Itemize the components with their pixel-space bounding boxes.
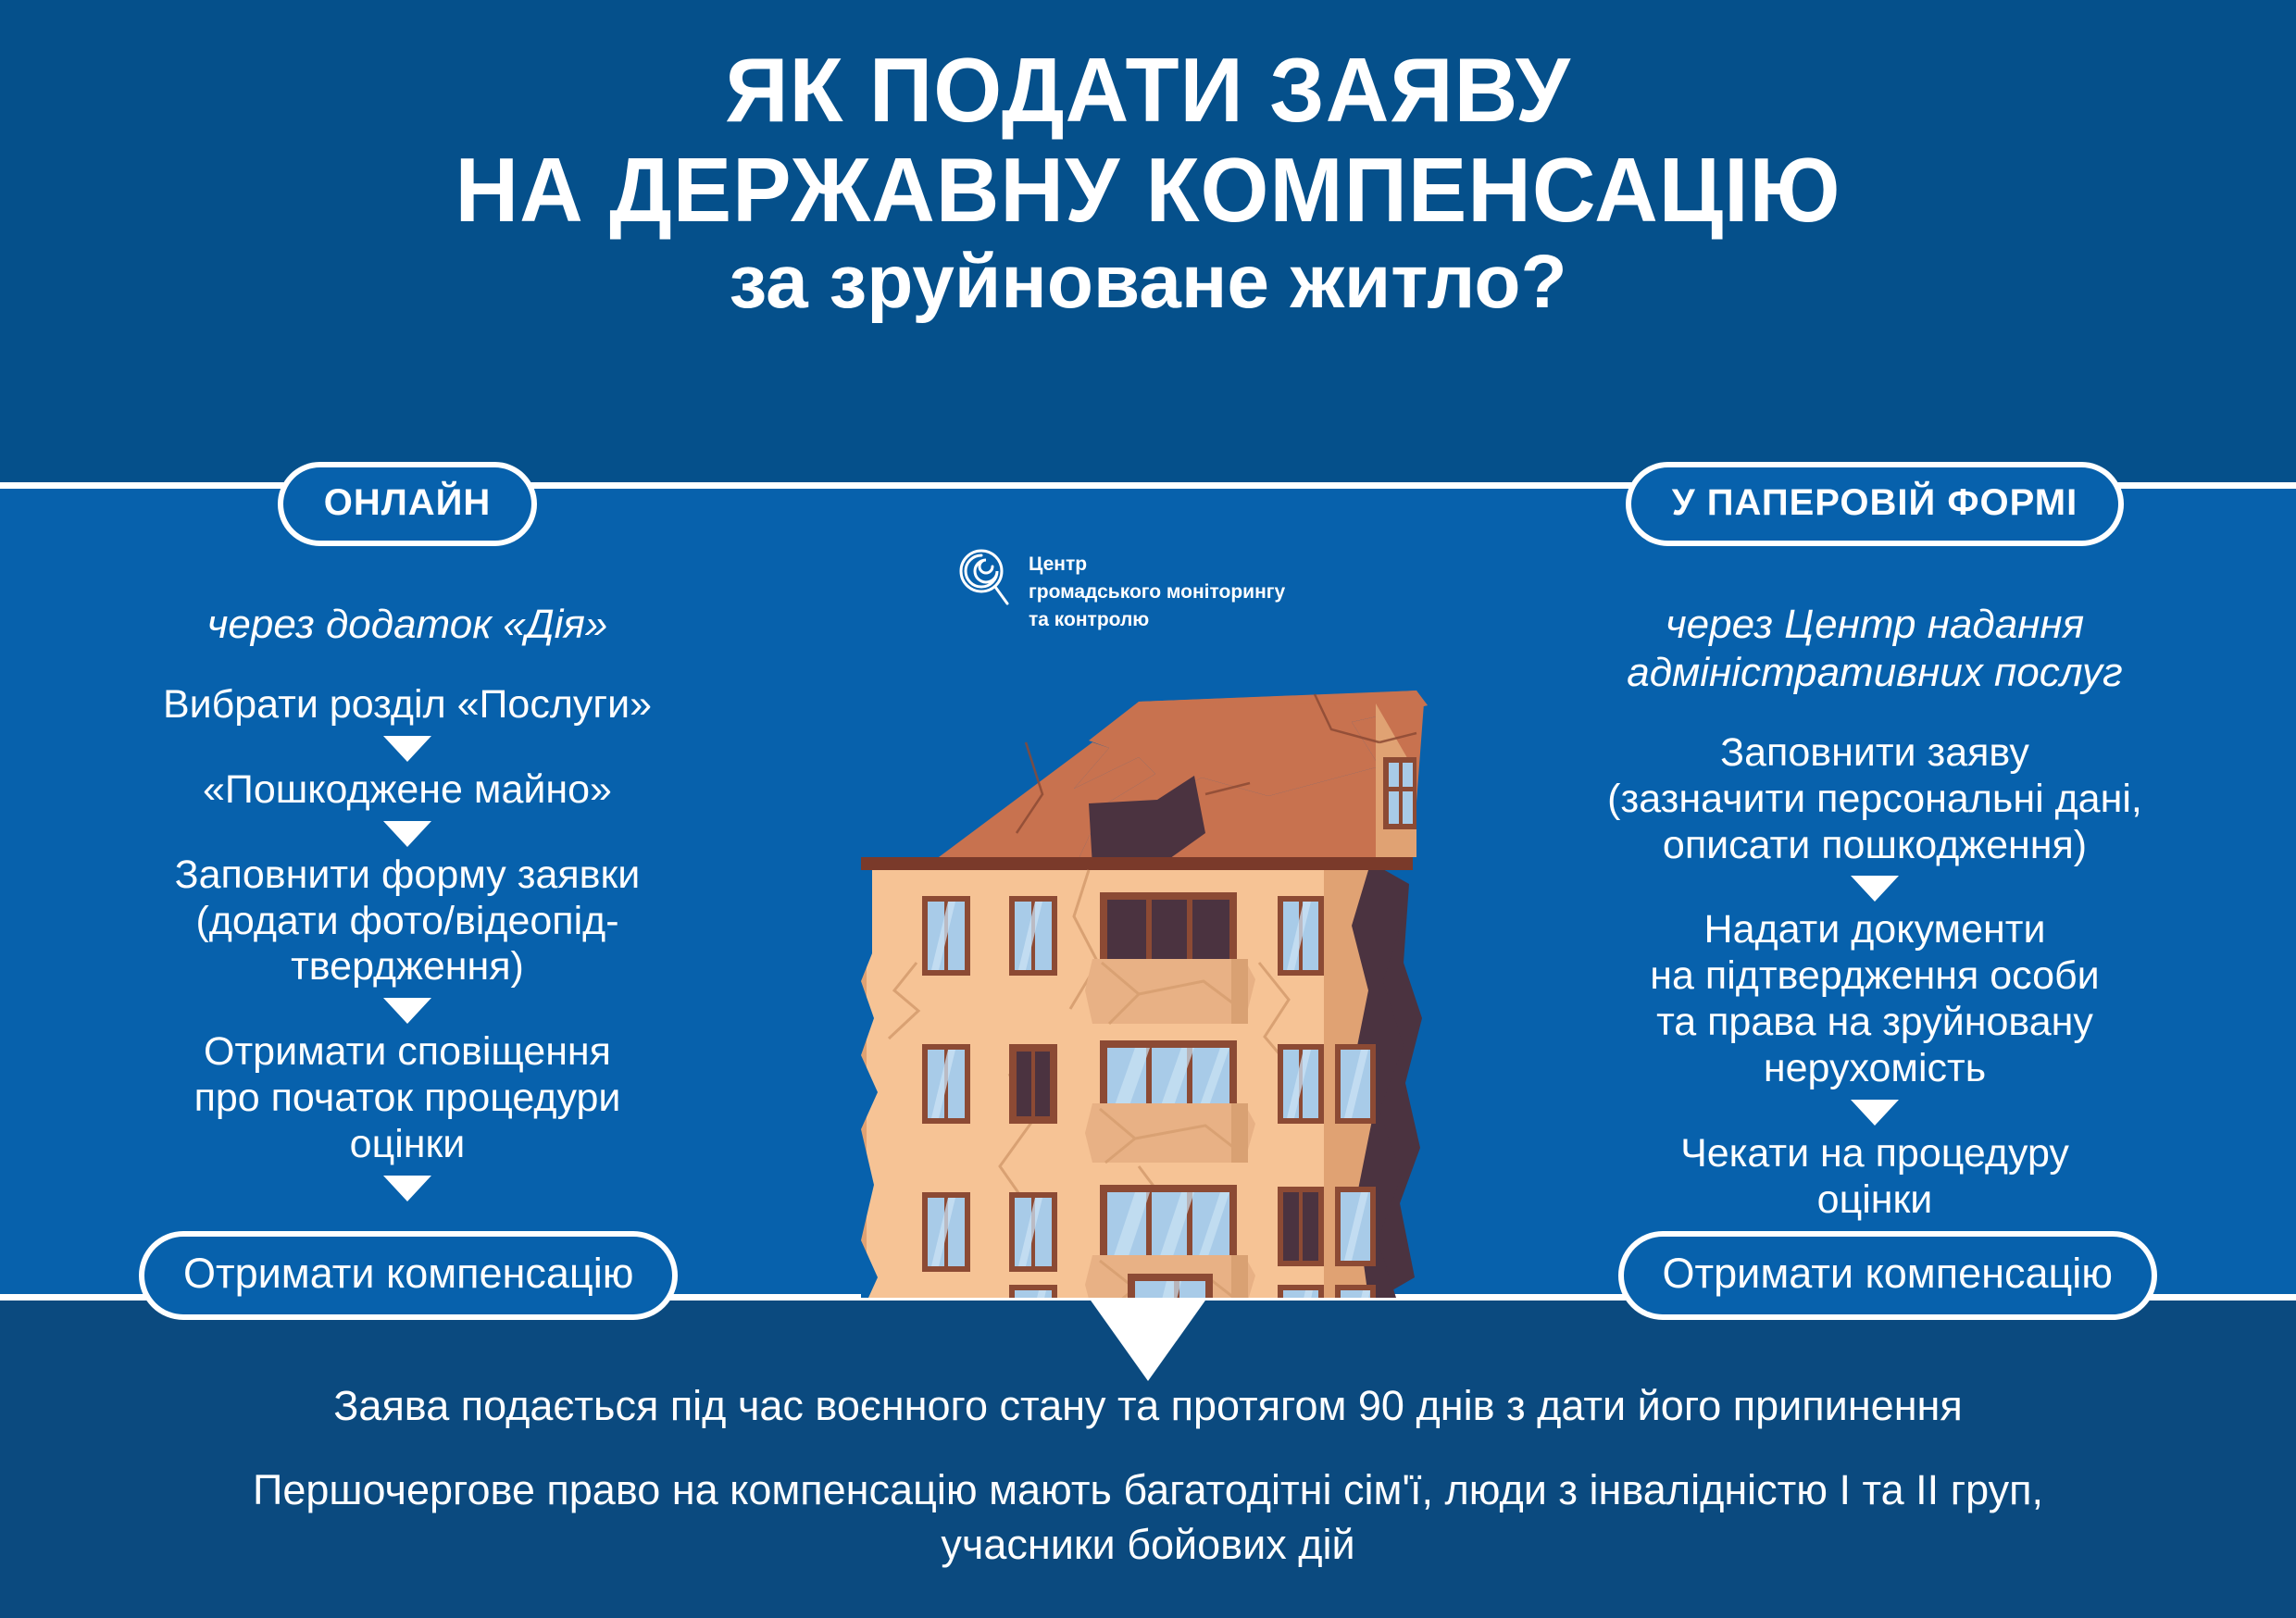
badge-online[interactable]: ОНЛАЙН [278, 462, 538, 546]
online-subhead: через додаток «Дія» [56, 601, 759, 649]
arrow-down-icon [383, 821, 431, 847]
arrow-down-icon [383, 1176, 431, 1201]
online-steps: Вибрати розділ «Послуги» «Пошкоджене май… [56, 682, 759, 1201]
paper-column: У ПАПЕРОВІЙ ФОРМІ через Центр надання ад… [1509, 504, 2240, 1263]
arrow-down-icon [383, 998, 431, 1024]
paper-steps: Заповнити заяву (зазначити персональні д… [1509, 730, 2240, 1257]
infographic-poster: ЯК ПОДАТИ ЗАЯВУ НА ДЕРЖАВНУ КОМПЕНСАЦІЮ … [0, 0, 2296, 1618]
caret-down-icon [1089, 1298, 1207, 1381]
paper-step-3: Чекати на процедуру оцінки [1509, 1131, 2240, 1224]
arrow-down-icon [1851, 876, 1899, 902]
magnifier-spiral-icon [958, 548, 1010, 609]
footer-note-deadline: Заява подається під час воєнного стану т… [0, 1381, 2296, 1431]
online-step-2: «Пошкоджене майно» [56, 767, 759, 814]
online-column: ОНЛАЙН через додаток «Дія» Вибрати розді… [56, 504, 759, 1207]
title-line-1: ЯК ПОДАТИ ЗАЯВУ [34, 44, 2262, 135]
paper-badge-holder: У ПАПЕРОВІЙ ФОРМІ [1509, 462, 2240, 546]
title-line-2: НА ДЕРЖАВНУ КОМПЕНСАЦІЮ [34, 144, 2262, 235]
damaged-building-illustration [861, 685, 1454, 1298]
paper-step-2: Надати документи на підтвердження особи … [1509, 907, 2240, 1092]
paper-step-1: Заповнити заяву (зазначити персональні д… [1509, 730, 2240, 869]
result-pill-paper[interactable]: Отримати компенсацію [1618, 1231, 2157, 1320]
page-title: ЯК ПОДАТИ ЗАЯВУ НА ДЕРЖАВНУ КОМПЕНСАЦІЮ … [0, 44, 2296, 322]
arrow-down-icon [383, 736, 431, 762]
logo-name-text: Центр громадського моніторингу та контро… [1029, 548, 1285, 633]
footer-note-priority: Першочергове право на компенсацію мають … [0, 1462, 2296, 1573]
organization-logo: Центр громадського моніторингу та контро… [958, 548, 1285, 633]
arrow-down-icon [1851, 1100, 1899, 1126]
online-step-1: Вибрати розділ «Послуги» [56, 682, 759, 728]
online-badge-holder: ОНЛАЙН [56, 462, 759, 546]
paper-subhead: через Центр надання адміністративних пос… [1509, 601, 2240, 697]
online-step-3: Заповнити форму заявки (додати фото/віде… [56, 853, 759, 991]
online-step-4: Отримати сповіщення про початок процедур… [56, 1029, 759, 1168]
badge-paper-form[interactable]: У ПАПЕРОВІЙ ФОРМІ [1626, 462, 2125, 546]
title-line-3: за зруйноване житло? [0, 243, 2296, 322]
result-pill-online[interactable]: Отримати компенсацію [139, 1231, 678, 1320]
